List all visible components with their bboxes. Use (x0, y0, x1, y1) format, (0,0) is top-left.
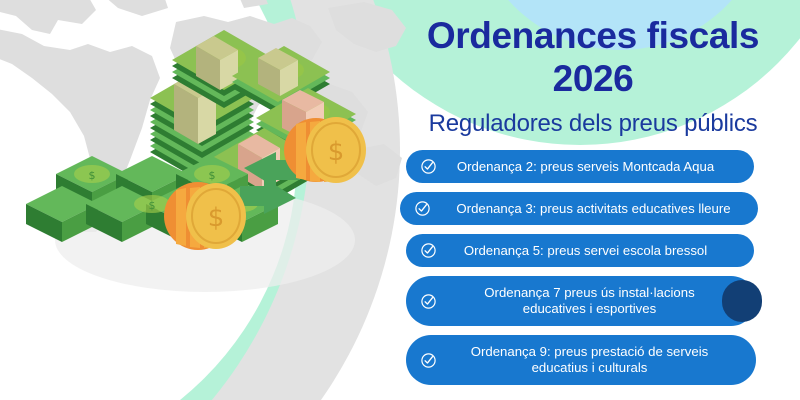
ordinance-list: Ordenança 2: preus serveis Montcada Aqua… (386, 150, 800, 394)
gold-coin-left: $ (164, 182, 246, 250)
svg-text:$: $ (208, 203, 225, 233)
money-illustration: $ $ $ $ (0, 0, 400, 400)
svg-text:$: $ (89, 169, 96, 182)
content-column: Ordenances fiscals 2026 Reguladores dels… (386, 0, 800, 400)
poster-canvas: $ $ $ $ (0, 0, 800, 400)
list-item[interactable]: Ordenança 9: preus prestació de serveis … (406, 335, 756, 385)
list-item[interactable]: Ordenança 2: preus serveis Montcada Aqua (406, 150, 754, 183)
list-item[interactable]: Ordenança 7 preus ús instal·lacions educ… (406, 276, 756, 326)
check-circle-icon (414, 200, 431, 217)
list-item-label: Ordenança 5: preus servei escola bressol (443, 243, 754, 259)
list-item-label: Ordenança 9: preus prestació de serveis … (443, 344, 756, 376)
page-title-line2: 2026 (386, 57, 800, 100)
list-item-label: Ordenança 3: preus activitats educatives… (437, 201, 758, 217)
svg-text:$: $ (149, 199, 156, 212)
list-item-label: Ordenança 2: preus serveis Montcada Aqua (443, 159, 754, 175)
gold-coin-right: $ (284, 117, 366, 183)
svg-text:$: $ (209, 169, 216, 182)
list-item[interactable]: Ordenança 3: preus activitats educatives… (400, 192, 758, 225)
check-circle-icon (420, 242, 437, 259)
list-item[interactable]: Ordenança 5: preus servei escola bressol (406, 234, 754, 267)
page-subtitle: Reguladores dels preus públics (386, 110, 800, 138)
check-circle-icon (420, 352, 437, 369)
check-circle-icon (420, 293, 437, 310)
svg-text:$: $ (328, 137, 345, 167)
list-item-label: Ordenança 7 preus ús instal·lacions educ… (443, 285, 756, 317)
page-title: Ordenances fiscals 2026 (386, 14, 800, 100)
check-circle-icon (420, 158, 437, 175)
page-title-line1: Ordenances fiscals (386, 14, 800, 57)
